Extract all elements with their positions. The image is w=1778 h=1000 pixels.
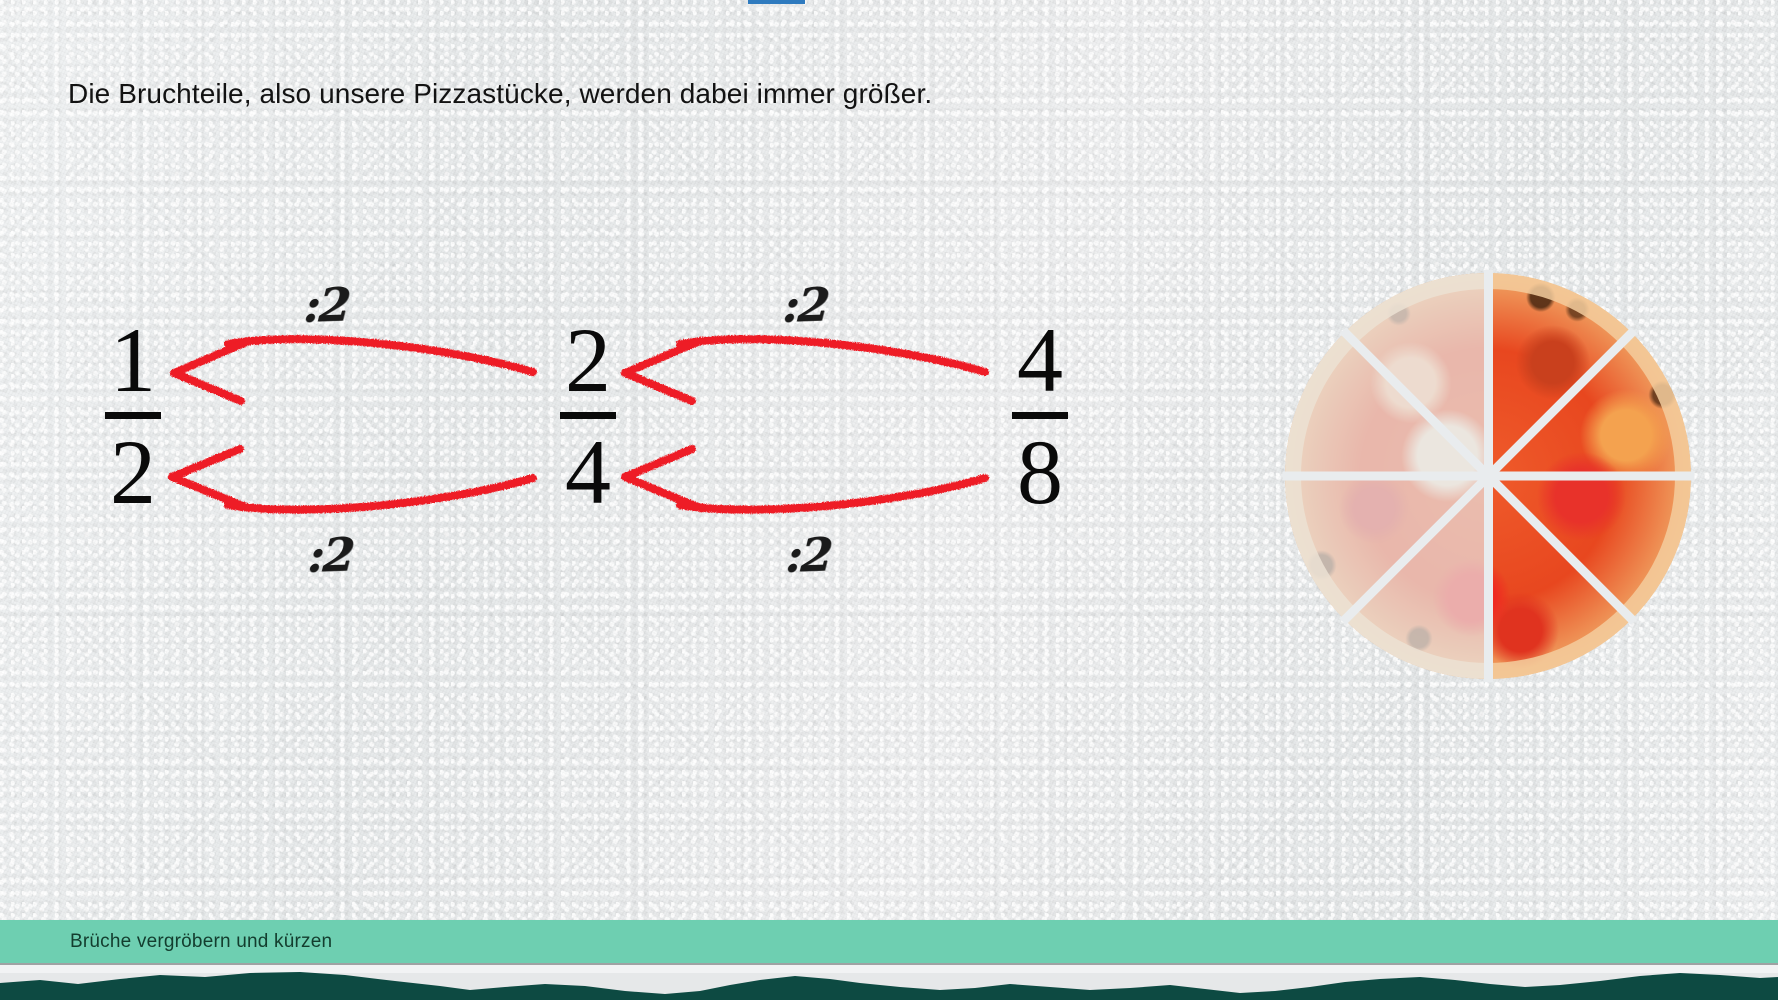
divide-label-bottom-right: :2 (785, 527, 833, 583)
caption-label: Brüche vergröbern und kürzen (70, 931, 332, 953)
progress-bar-track[interactable] (0, 0, 1778, 4)
fraction-one-half: 1 2 (78, 318, 188, 514)
pizza-diagram (1285, 273, 1691, 679)
divide-label-top-left: :2 (303, 277, 351, 333)
progress-bar-fill (748, 0, 805, 4)
pizza-slice-lines (1285, 273, 1691, 679)
fraction-numerator: 4 (985, 318, 1095, 403)
fraction-bar (1012, 412, 1068, 419)
fraction-bar (105, 412, 161, 419)
fraction-denominator: 2 (78, 430, 188, 515)
divide-label-bottom-left: :2 (307, 527, 355, 583)
fraction-four-eighths: 4 8 (985, 318, 1095, 514)
fraction-numerator: 1 (78, 318, 188, 403)
slide-headline: Die Bruchteile, also unsere Pizzastücke,… (68, 76, 932, 111)
fraction-denominator: 4 (533, 430, 643, 515)
slide-canvas: Die Bruchteile, also unsere Pizzastücke,… (0, 0, 1778, 1000)
fraction-two-quarters: 2 4 (533, 318, 643, 514)
divide-label-top-right: :2 (782, 277, 830, 333)
footer-torn-edge (0, 963, 1778, 1000)
fraction-numerator: 2 (533, 318, 643, 403)
fraction-bar (560, 412, 616, 419)
fraction-denominator: 8 (985, 430, 1095, 515)
caption-band: Brüche vergröbern und kürzen (0, 920, 1778, 963)
footer-green-shape (0, 963, 1778, 1000)
